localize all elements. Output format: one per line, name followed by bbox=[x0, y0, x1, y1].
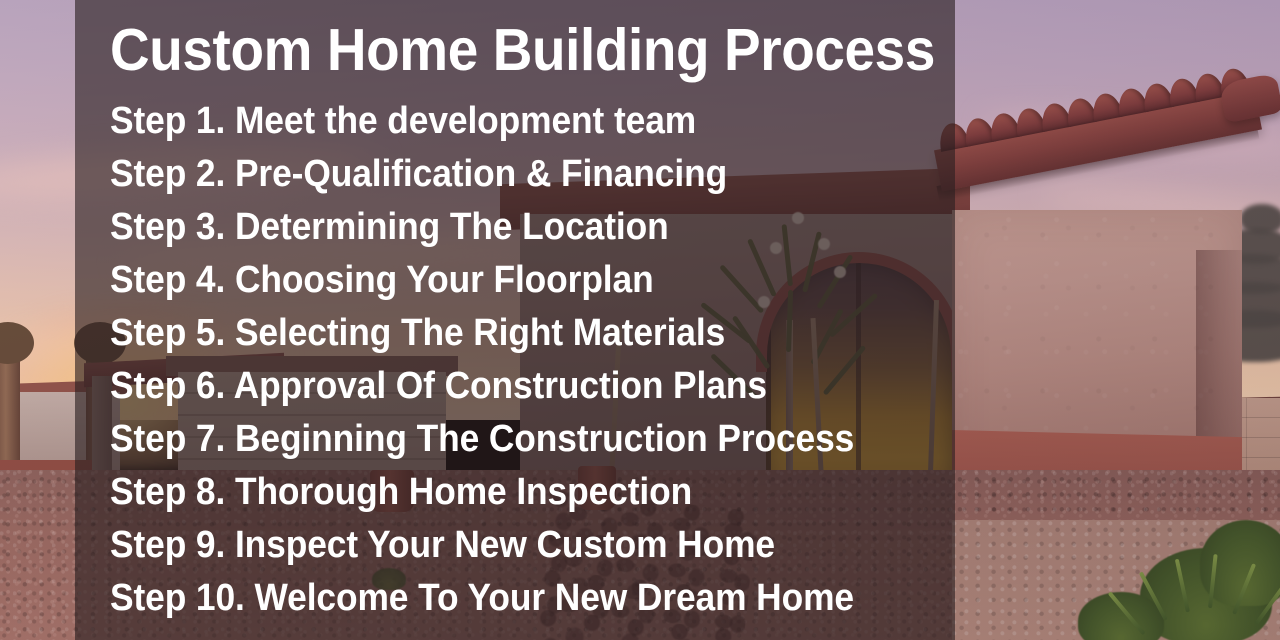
list-item: Step 4. Choosing Your Floorplan bbox=[110, 254, 854, 307]
promo-banner: Custom Home Building Process Step 1. Mee… bbox=[0, 0, 1280, 640]
list-item: Step 9. Inspect Your New Custom Home bbox=[110, 519, 854, 572]
text-content: Custom Home Building Process Step 1. Mee… bbox=[110, 0, 950, 640]
list-item: Step 2. Pre-Qualification & Financing bbox=[110, 148, 854, 201]
list-item: Step 1. Meet the development team bbox=[110, 95, 854, 148]
list-item: Step 3. Determining The Location bbox=[110, 201, 854, 254]
list-item: Step 6. Approval Of Construction Plans bbox=[110, 360, 854, 413]
list-item: Step 7. Beginning The Construction Proce… bbox=[110, 413, 854, 466]
list-item: Step 10. Welcome To Your New Dream Home bbox=[110, 572, 854, 625]
steps-list: Step 1. Meet the development team Step 2… bbox=[110, 95, 910, 625]
page-title: Custom Home Building Process bbox=[110, 21, 935, 80]
list-item: Step 8. Thorough Home Inspection bbox=[110, 466, 854, 519]
list-item: Step 5. Selecting The Right Materials bbox=[110, 307, 854, 360]
